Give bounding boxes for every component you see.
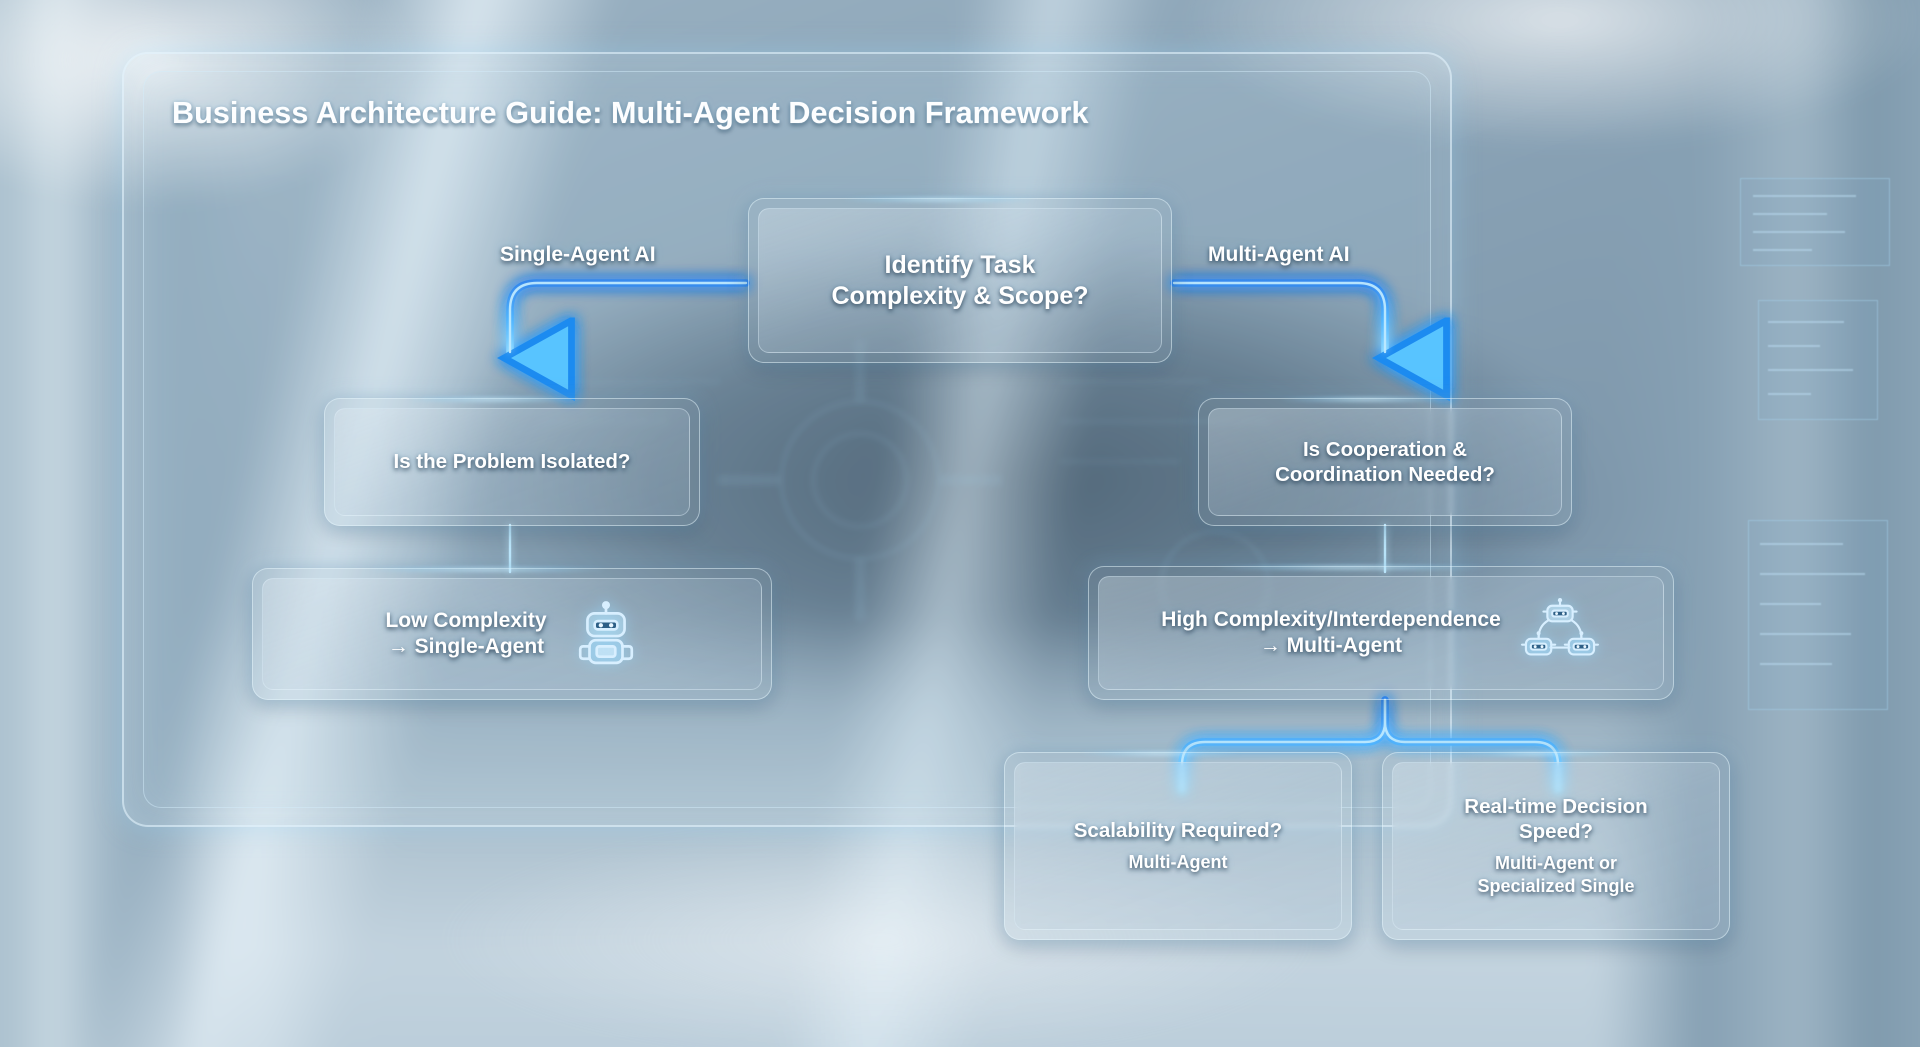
node-scalability-title: Scalability Required? (1074, 818, 1282, 844)
node-low-complexity-line2: → Single-Agent (388, 634, 544, 660)
node-cooperation-line1: Is Cooperation & (1303, 437, 1467, 462)
diagram-title: Business Architecture Guide: Multi-Agent… (172, 96, 1089, 131)
node-scalability-body: Scalability Required? Multi-Agent (1005, 753, 1351, 939)
node-identify-task-line2: Complexity & Scope? (832, 281, 1089, 312)
hud-panel-mid (1758, 300, 1878, 420)
node-cooperation-body: Is Cooperation & Coordination Needed? (1199, 399, 1571, 525)
node-real-time-subtitle-line2: Specialized Single (1477, 875, 1634, 898)
node-cooperation-line2: Coordination Needed? (1275, 462, 1495, 487)
hud-panel-bottom (1748, 520, 1888, 710)
node-scalability-required[interactable]: Scalability Required? Multi-Agent (1004, 752, 1352, 940)
node-problem-isolated-line1: Is the Problem Isolated? (394, 449, 631, 474)
node-identify-task-body: Identify Task Complexity & Scope? (749, 199, 1171, 362)
node-identify-task-line1: Identify Task (885, 250, 1036, 281)
node-problem-isolated[interactable]: Is the Problem Isolated? (324, 398, 700, 526)
node-real-time-body: Real-time Decision Speed? Multi-Agent or… (1383, 753, 1729, 939)
hud-panel-top (1740, 178, 1890, 266)
node-low-complexity-text: Low Complexity → Single-Agent (385, 608, 546, 660)
node-low-complexity-single-agent[interactable]: Low Complexity → Single-Agent (252, 568, 772, 700)
node-low-complexity-line1: Low Complexity (385, 608, 546, 634)
node-real-time-title-line2: Speed? (1519, 819, 1593, 845)
node-real-time-subtitle-line1: Multi-Agent or (1495, 852, 1617, 875)
diagram-canvas: Business Architecture Guide: Multi-Agent… (0, 0, 1920, 1047)
node-high-complexity-body: High Complexity/Interdependence → Multi-… (1089, 567, 1673, 699)
node-problem-isolated-body: Is the Problem Isolated? (325, 399, 699, 525)
node-cooperation-coordination[interactable]: Is Cooperation & Coordination Needed? (1198, 398, 1572, 526)
multi-robot-icon (1519, 597, 1601, 669)
node-real-time-title-line1: Real-time Decision (1464, 794, 1647, 820)
node-real-time-decision-speed[interactable]: Real-time Decision Speed? Multi-Agent or… (1382, 752, 1730, 940)
node-high-complexity-text: High Complexity/Interdependence → Multi-… (1161, 607, 1501, 659)
node-high-complexity-line2: → Multi-Agent (1260, 633, 1402, 659)
node-high-complexity-multi-agent[interactable]: High Complexity/Interdependence → Multi-… (1088, 566, 1674, 700)
edge-label-single-agent-ai: Single-Agent AI (500, 243, 656, 267)
edge-label-multi-agent-ai: Multi-Agent AI (1208, 243, 1350, 267)
node-identify-task[interactable]: Identify Task Complexity & Scope? (748, 198, 1172, 363)
node-scalability-subtitle: Multi-Agent (1129, 851, 1228, 874)
node-high-complexity-line1: High Complexity/Interdependence (1161, 607, 1501, 633)
single-robot-icon (573, 601, 639, 667)
node-low-complexity-body: Low Complexity → Single-Agent (253, 569, 771, 699)
